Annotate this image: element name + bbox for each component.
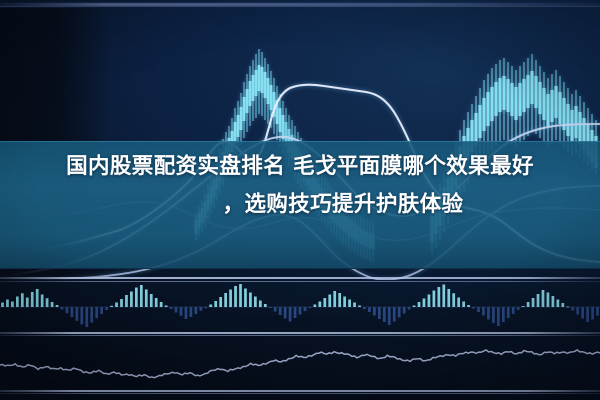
macd-bar <box>363 307 366 309</box>
macd-bar <box>338 293 341 307</box>
macd-bar <box>31 292 34 307</box>
macd-bar <box>155 298 158 307</box>
macd-bar <box>457 298 460 308</box>
macd-bar <box>581 307 584 319</box>
macd-bar <box>249 293 252 308</box>
macd-bar <box>214 301 217 307</box>
macd-bar <box>150 294 153 307</box>
macd-bar <box>190 307 193 317</box>
macd-bar <box>502 307 505 322</box>
macd-bar <box>566 307 569 308</box>
macd-bar <box>239 284 242 307</box>
macd-bar <box>145 290 148 308</box>
macd-bars <box>1 284 599 327</box>
macd-bar <box>408 307 411 310</box>
macd-bar <box>130 292 133 308</box>
macd-bar <box>552 296 555 307</box>
macd-bar <box>323 298 326 307</box>
macd-bar <box>80 307 83 325</box>
macd-bar <box>180 307 183 316</box>
macd-bar <box>71 307 74 317</box>
macd-bar <box>135 288 138 308</box>
macd-bar <box>16 297 19 308</box>
macd-histogram-panel <box>0 282 600 332</box>
macd-bar <box>85 307 88 327</box>
macd-bar <box>522 306 525 307</box>
macd-bar <box>229 290 232 308</box>
macd-bar <box>11 302 14 308</box>
macd-bar <box>264 304 267 307</box>
macd-bar <box>125 295 128 307</box>
macd-bar <box>160 302 163 307</box>
panel-divider-mid <box>0 332 600 334</box>
macd-bar <box>41 295 44 308</box>
macd-bar <box>517 307 520 310</box>
macd-bar <box>576 307 579 315</box>
macd-bar <box>224 293 227 307</box>
macd-histogram-svg <box>0 282 600 332</box>
macd-bar <box>413 306 416 308</box>
macd-bar <box>195 307 198 314</box>
macd-bar <box>279 307 282 315</box>
macd-bar <box>105 307 108 310</box>
bottom-line-svg <box>0 336 600 392</box>
macd-bar <box>294 307 297 318</box>
macd-bar <box>95 307 98 318</box>
macd-bar <box>497 307 500 326</box>
macd-bar <box>343 297 346 308</box>
macd-bar <box>423 299 426 308</box>
macd-bar <box>76 307 79 321</box>
panel-divider-bottom-thin <box>0 393 600 394</box>
macd-bar <box>204 307 207 308</box>
top-highlight-rule-secondary <box>0 6 600 7</box>
macd-bar <box>274 307 277 312</box>
macd-bar <box>165 306 168 308</box>
macd-bar <box>61 307 64 310</box>
macd-bar <box>537 294 540 307</box>
panel-divider-bottom <box>0 390 600 392</box>
macd-bar <box>314 305 317 308</box>
macd-bar <box>185 307 188 319</box>
headline-band-top-edge <box>0 141 600 142</box>
headline-line-2: ，选购技巧提升护肤体验 <box>223 186 464 224</box>
macd-bar <box>532 298 535 307</box>
macd-bar <box>383 307 386 322</box>
macd-bar <box>21 293 24 307</box>
macd-bar <box>527 302 530 307</box>
macd-bar <box>100 307 103 314</box>
macd-bar <box>418 302 421 307</box>
bottom-line-panel <box>0 336 600 392</box>
macd-bar <box>318 302 321 308</box>
panel-divider-top <box>0 277 600 279</box>
macd-bar <box>36 289 39 307</box>
macd-bar <box>472 307 475 309</box>
macd-bar <box>542 290 545 307</box>
macd-bar <box>373 307 376 316</box>
macd-bar <box>467 305 470 307</box>
macd-bar <box>289 307 292 322</box>
macd-bar <box>115 303 118 308</box>
macd-bar <box>259 301 262 308</box>
macd-bar <box>393 307 396 322</box>
macd-bar <box>110 306 113 307</box>
macd-bar <box>561 303 564 307</box>
macd-bar <box>591 307 594 320</box>
banner-stage: 国内股票配资实盘排名 毛戈平面膜哪个效果最好 ，选购技巧提升护肤体验 <box>0 0 600 400</box>
headline-band-bottom-edge <box>0 268 600 269</box>
macd-bar <box>556 300 559 308</box>
macd-bar <box>428 295 431 308</box>
macd-bar <box>175 307 178 313</box>
macd-bar <box>46 298 49 307</box>
macd-bar <box>299 307 302 315</box>
macd-bar <box>447 289 450 307</box>
macd-bar <box>66 307 69 313</box>
macd-bar <box>140 285 143 307</box>
macd-bar <box>586 307 589 322</box>
macd-bar <box>209 305 212 308</box>
macd-bar <box>368 307 371 312</box>
macd-bar <box>442 285 445 308</box>
macd-bar <box>388 307 391 325</box>
macd-bar <box>437 287 440 307</box>
headline-text-block: 国内股票配资实盘排名 毛戈平面膜哪个效果最好 ，选购技巧提升护肤体验 <box>0 148 600 266</box>
macd-bar <box>51 302 54 307</box>
macd-bar <box>90 307 93 323</box>
macd-bar <box>398 307 401 318</box>
bottom-line-series <box>0 350 600 378</box>
macd-bar <box>328 295 331 308</box>
macd-bar <box>482 307 485 316</box>
macd-bar <box>596 307 599 316</box>
macd-bar <box>378 307 381 319</box>
macd-bar <box>507 307 510 318</box>
macd-bar <box>477 307 480 312</box>
macd-bar <box>244 289 247 308</box>
macd-bar <box>487 307 490 320</box>
macd-bar <box>120 299 123 307</box>
macd-bar <box>309 307 312 308</box>
macd-bar <box>358 306 361 308</box>
macd-bar <box>219 297 222 307</box>
macd-bar <box>433 291 436 308</box>
macd-bar <box>26 298 29 308</box>
macd-bar <box>333 291 336 307</box>
headline-line-1: 国内股票配资实盘排名 毛戈平面膜哪个效果最好 <box>66 148 534 186</box>
macd-bar <box>254 297 257 308</box>
macd-bar <box>462 302 465 308</box>
macd-bar <box>547 293 550 308</box>
macd-bar <box>452 293 455 307</box>
macd-bar <box>170 307 173 309</box>
macd-bar <box>348 300 351 308</box>
macd-bar <box>492 307 495 323</box>
macd-bar <box>304 307 307 311</box>
macd-bar <box>1 303 4 308</box>
macd-bar <box>56 305 59 307</box>
macd-bar <box>6 300 9 308</box>
macd-bar <box>571 307 574 311</box>
macd-bar <box>403 307 406 314</box>
macd-bar <box>284 307 287 319</box>
macd-bar <box>234 286 237 307</box>
macd-bar <box>269 307 272 308</box>
macd-bar <box>512 307 515 314</box>
macd-bar <box>353 303 356 308</box>
macd-bar <box>199 307 202 311</box>
